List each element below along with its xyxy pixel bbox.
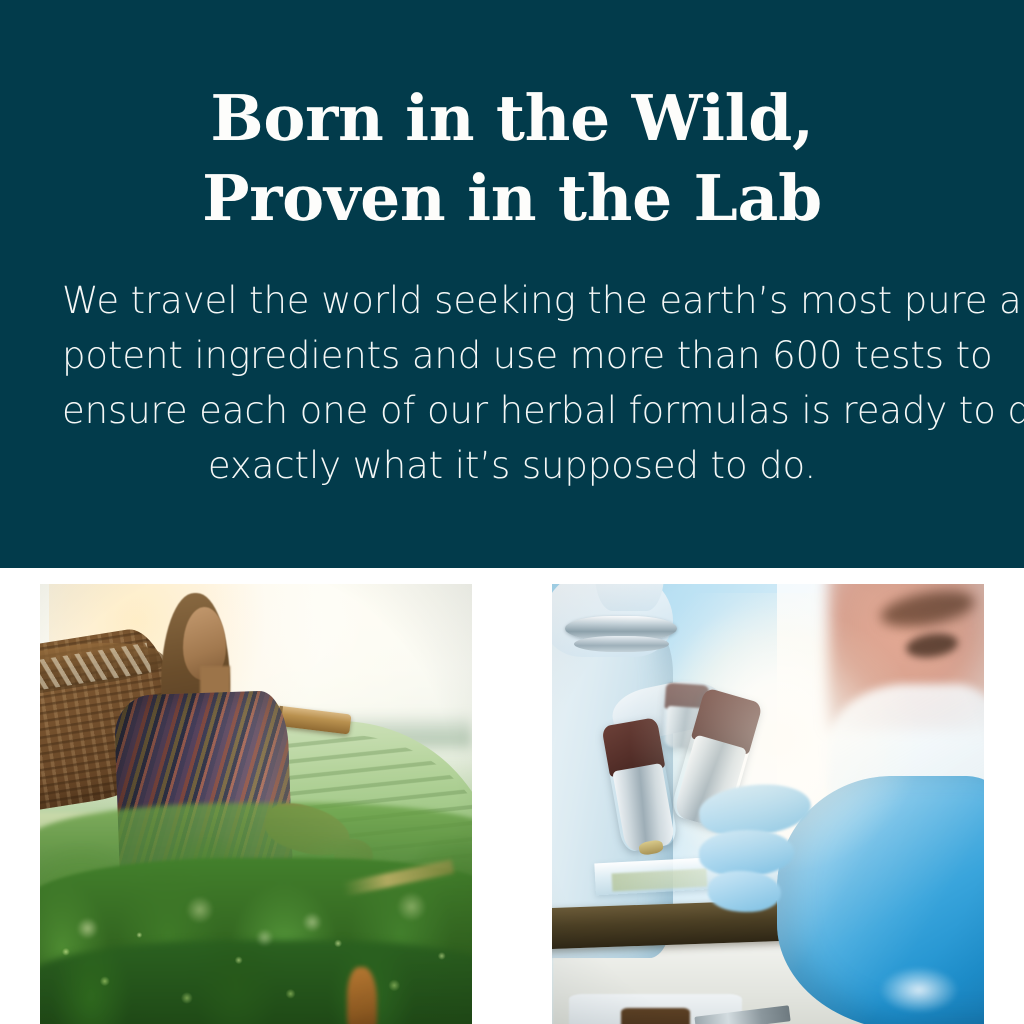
- headline-panel: Born in the Wild, Proven in the Lab We t…: [0, 0, 1024, 568]
- photo-strip: [0, 568, 1024, 1024]
- page-title: Born in the Wild, Proven in the Lab: [0, 78, 1024, 238]
- microscope-base-shadow: [621, 1008, 690, 1024]
- headline-line-2: Proven in the Lab: [0, 158, 1024, 238]
- microscope-eyepiece: [595, 584, 664, 611]
- body-copy-line-4: exactly what it’s supposed to do.: [62, 438, 962, 493]
- body-copy: We travel the world seeking the earth’s …: [62, 273, 962, 493]
- marketing-graphic: Born in the Wild, Proven in the Lab We t…: [0, 0, 1024, 1024]
- body-copy-line-2: potent ingredients and use more than 600…: [62, 328, 962, 383]
- body-copy-line-3: ensure each one of our herbal formulas i…: [62, 383, 962, 438]
- bokeh-highlights: [40, 885, 472, 1024]
- lab-microscope-photo: [552, 584, 984, 1024]
- tea-harvester-photo: [40, 584, 472, 1024]
- body-copy-line-1: We travel the world seeking the earth’s …: [62, 273, 962, 328]
- microscope-chrome-ring-lower: [574, 636, 669, 652]
- objective-barrel: [613, 763, 676, 852]
- glove-highlight: [880, 967, 958, 1013]
- headline-line-1: Born in the Wild,: [0, 78, 1024, 158]
